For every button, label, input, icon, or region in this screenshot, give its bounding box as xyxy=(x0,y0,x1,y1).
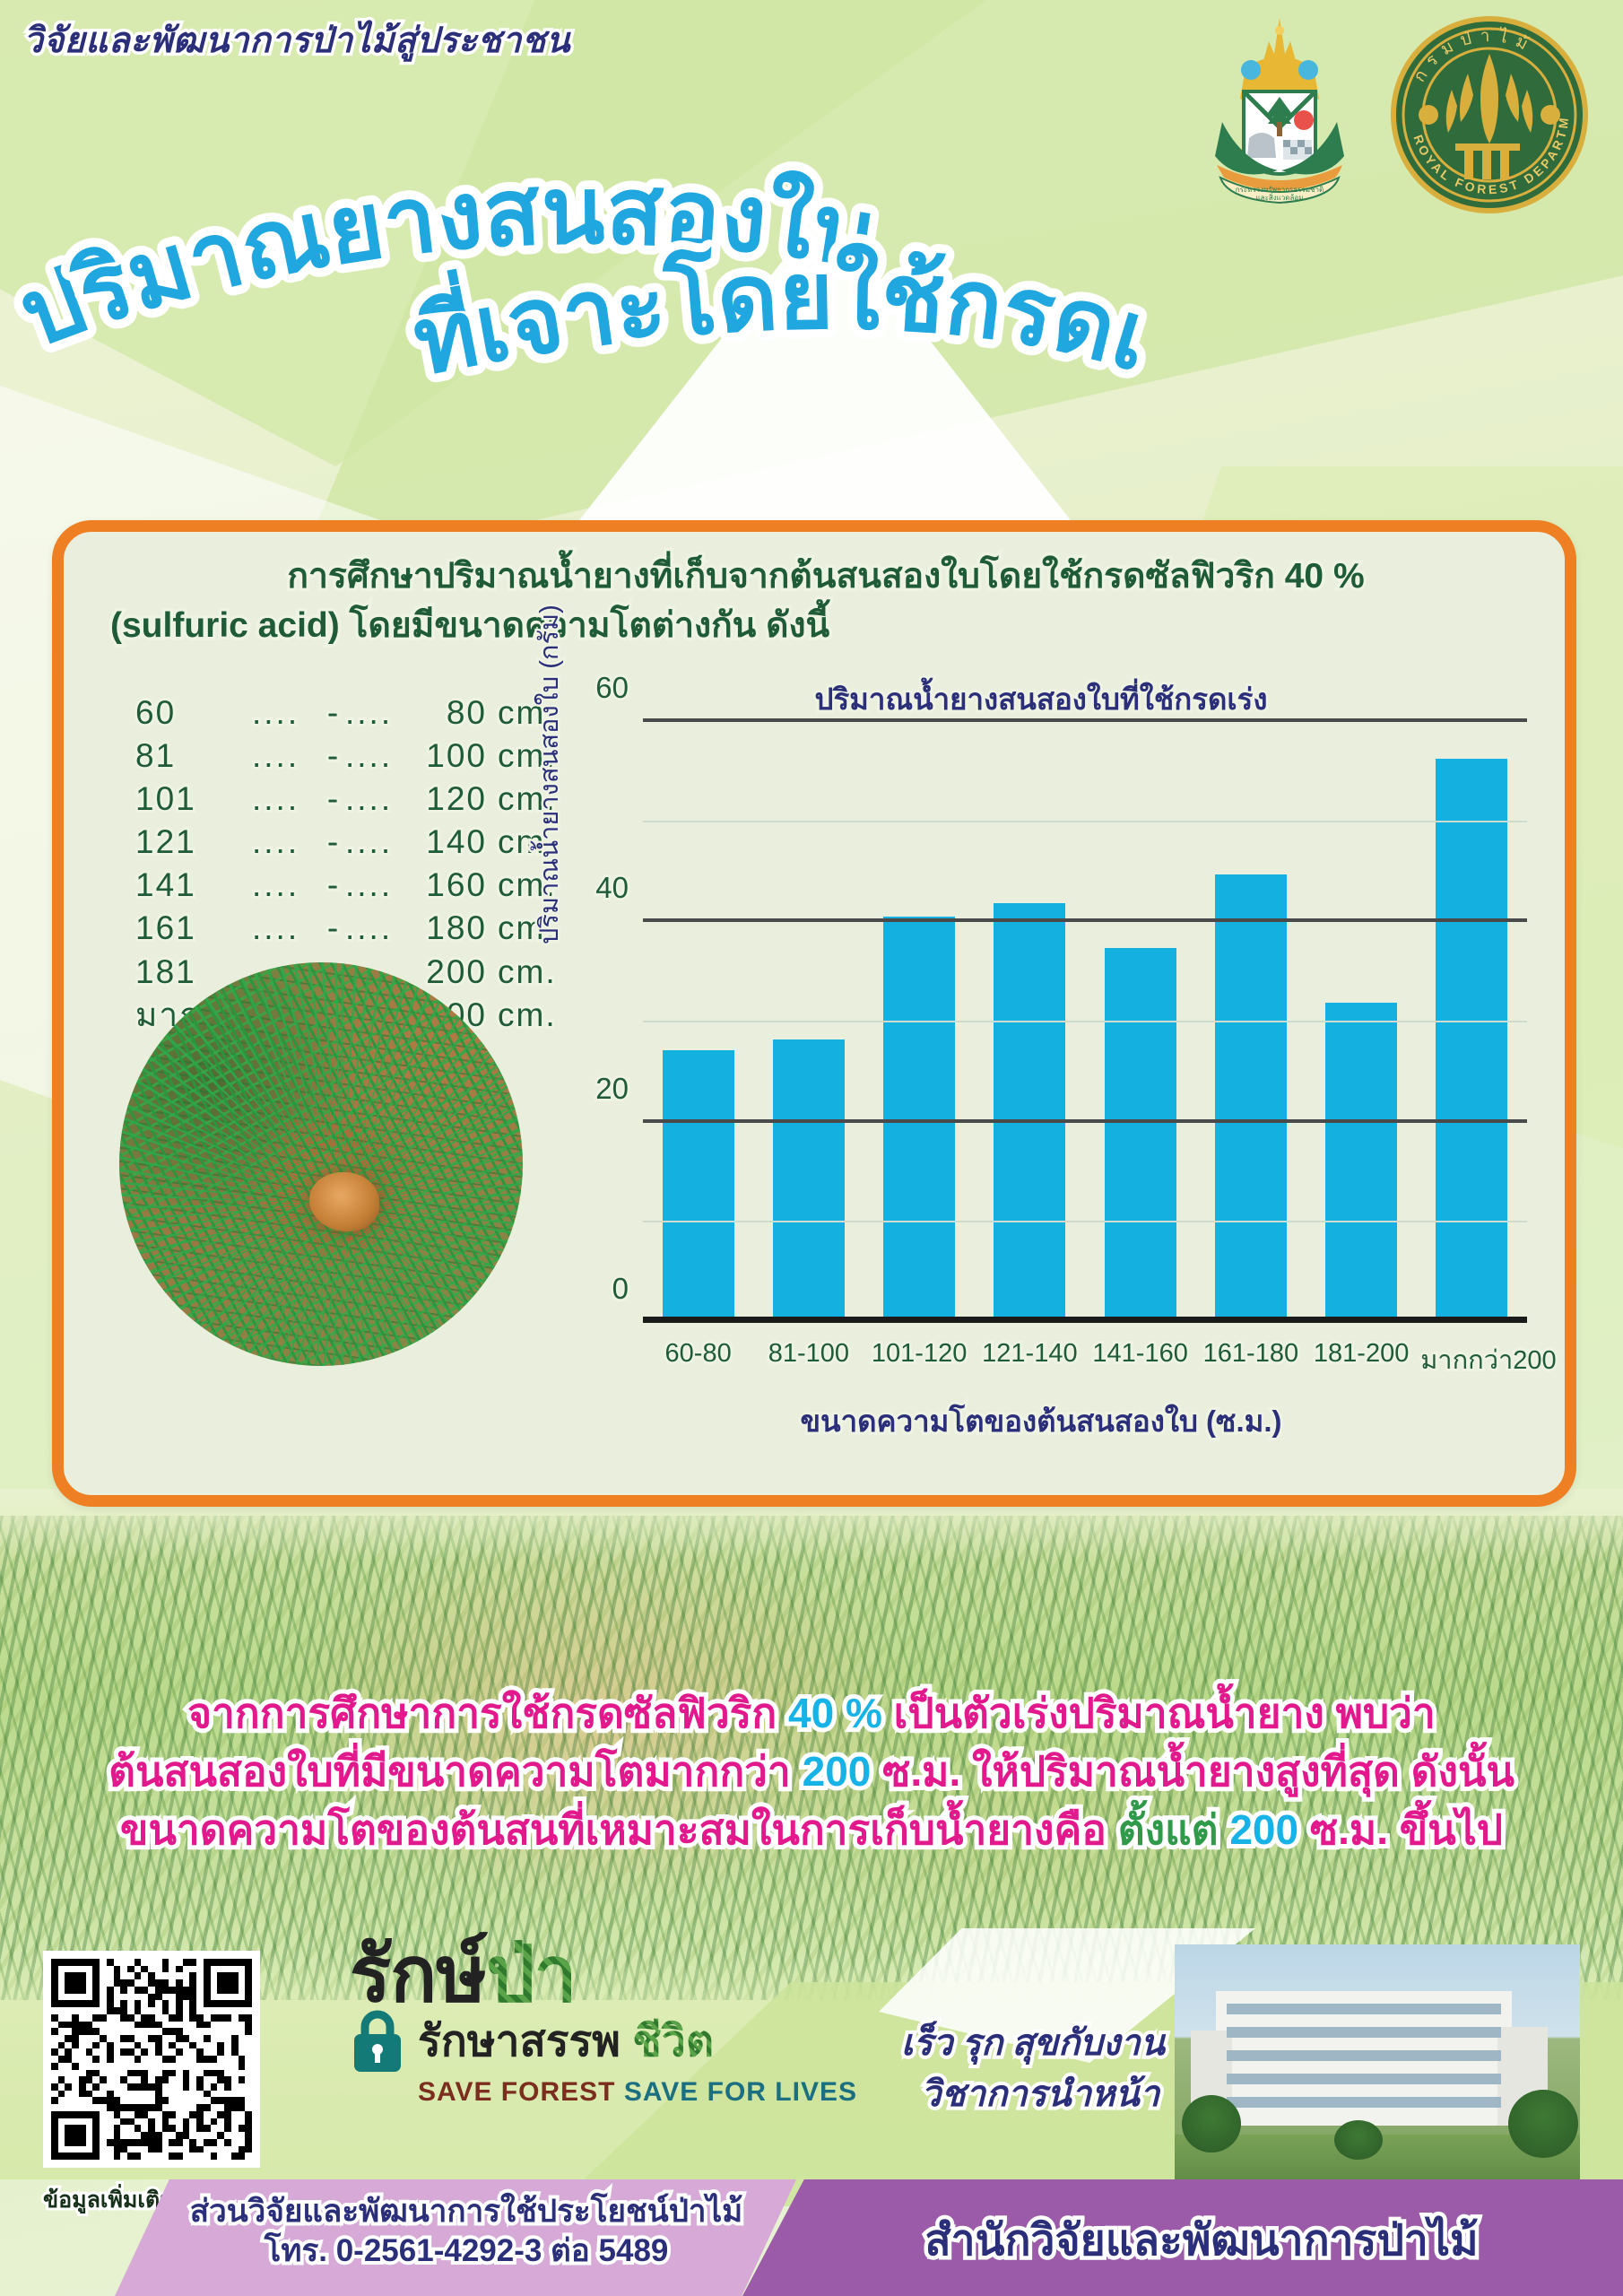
qr-module xyxy=(141,2063,148,2070)
qr-module xyxy=(224,2083,231,2091)
qr-module xyxy=(204,2132,211,2139)
qr-module xyxy=(86,2028,93,2035)
qr-module xyxy=(100,2056,107,2063)
qr-module xyxy=(72,2118,79,2126)
qr-module xyxy=(86,2146,93,2153)
qr-module xyxy=(231,2132,239,2139)
qr-module xyxy=(239,2022,246,2029)
size-dots-2: .... xyxy=(345,864,404,907)
qr-module xyxy=(204,1972,211,1979)
conclusion-l2-a: ต้นสนสองใบที่มีขนาดความโตมากกว่า xyxy=(108,1748,803,1795)
qr-module xyxy=(162,1972,169,1979)
qr-module xyxy=(155,2014,162,2022)
building-window-row xyxy=(1227,2074,1501,2084)
chart-bar-column xyxy=(1310,722,1412,1323)
qr-module xyxy=(155,1966,162,1973)
qr-module xyxy=(79,2104,86,2111)
qr-module xyxy=(135,2091,142,2098)
qr-module xyxy=(196,2063,204,2070)
qr-module xyxy=(92,2083,100,2091)
qr-module xyxy=(100,2070,107,2077)
qr-module xyxy=(189,2118,196,2126)
footer-phone: โทร. 0-2561-4292-3 ต่อ 5489 xyxy=(152,2231,780,2271)
qr-module xyxy=(148,2014,155,2022)
qr-module xyxy=(169,2104,176,2111)
qr-module xyxy=(196,2056,204,2063)
qr-module xyxy=(176,2104,183,2111)
qr-module xyxy=(127,2007,135,2014)
qr-module xyxy=(231,2139,239,2146)
qr-module xyxy=(51,2000,58,2007)
qr-module xyxy=(51,2146,58,2153)
qr-module xyxy=(204,1994,211,2001)
qr-module xyxy=(114,2070,121,2077)
qr-module xyxy=(86,2111,93,2118)
size-to: 80 xyxy=(404,691,487,735)
qr-module xyxy=(107,2070,114,2077)
qr-module xyxy=(196,2035,204,2042)
logo-line-2-row: รักษาสรรพ ชีวิต xyxy=(350,2007,861,2075)
qr-module xyxy=(162,1959,169,1966)
qr-module xyxy=(58,2152,65,2160)
qr-module xyxy=(176,1994,183,2001)
qr-module xyxy=(217,2014,224,2022)
qr-module xyxy=(65,2028,72,2035)
qr-module xyxy=(120,1994,127,2001)
qr-module xyxy=(189,2063,196,2070)
qr-module xyxy=(79,2132,86,2139)
qr-module xyxy=(162,2076,169,2083)
qr-module xyxy=(100,2076,107,2083)
qr-module xyxy=(239,2146,246,2153)
qr-module xyxy=(162,2118,169,2126)
qr-module xyxy=(141,2028,148,2035)
qr-module xyxy=(176,2042,183,2049)
qr-module xyxy=(58,2146,65,2153)
agency-slogan: เร็ว รุก สุขกับงาน วิชาการนำหน้า xyxy=(901,2018,1165,2120)
qr-module xyxy=(162,2091,169,2098)
qr-module xyxy=(120,2063,127,2070)
footer: ส่วนวิจัยและพัฒนาการใช้ประโยชน์ป่าไม้ โท… xyxy=(0,2179,1623,2296)
qr-module xyxy=(204,2125,211,2132)
qr-module xyxy=(155,2146,162,2153)
qr-module xyxy=(79,2139,86,2146)
qr-module xyxy=(120,2111,127,2118)
qr-module xyxy=(51,2014,58,2022)
qr-module xyxy=(141,2104,148,2111)
qr-module xyxy=(120,2056,127,2063)
qr-module xyxy=(86,2022,93,2029)
qr-module xyxy=(65,2076,72,2083)
qr-module xyxy=(65,1987,72,1994)
qr-module xyxy=(224,1959,231,1966)
qr-module xyxy=(86,2048,93,2056)
conclusion-l2-c: ซ.ม. ให้ปริมาณน้ำยางสูงที่สุด ดังนั้น xyxy=(871,1748,1515,1795)
qr-module xyxy=(58,2035,65,2042)
qr-module xyxy=(92,2014,100,2022)
qr-module xyxy=(114,1966,121,1973)
qr-module xyxy=(169,2139,176,2146)
qr-code-block[interactable]: ข้อมูลเพิ่มเติม SCAN ME xyxy=(43,1951,285,2218)
chart-bar xyxy=(1436,759,1507,1323)
qr-module xyxy=(135,2139,142,2146)
qr-module xyxy=(92,2132,100,2139)
qr-module xyxy=(211,2125,218,2132)
slogan-line-1: เร็ว รุก สุขกับงาน xyxy=(901,2018,1165,2069)
chart-y-axis-label: ปริมาณน้ำยางสนสองใบ (กรัม) xyxy=(528,604,569,944)
qr-module xyxy=(162,2111,169,2118)
qr-module xyxy=(183,2083,190,2091)
qr-module xyxy=(141,2118,148,2126)
chart-gridline xyxy=(643,1119,1527,1123)
qr-module xyxy=(58,2048,65,2056)
qr-module xyxy=(231,1987,239,1994)
qr-module xyxy=(217,2104,224,2111)
building-window-row xyxy=(1227,2097,1501,2108)
qr-module xyxy=(114,2146,121,2153)
qr-code-grid xyxy=(51,1959,252,2160)
qr-module xyxy=(169,1979,176,1987)
qr-module xyxy=(107,2091,114,2098)
qr-module xyxy=(162,2048,169,2056)
qr-module xyxy=(114,2132,121,2139)
qr-module xyxy=(211,2132,218,2139)
qr-module xyxy=(217,2022,224,2029)
qr-module xyxy=(211,2070,218,2077)
qr-module xyxy=(196,1979,204,1987)
chart-y-tick: 20 xyxy=(595,1072,629,1106)
chart-title: ปริมาณน้ำยางสนสองใบที่ใช้กรดเร่ง xyxy=(539,675,1543,723)
qr-module xyxy=(86,1959,93,1966)
qr-module xyxy=(135,2014,142,2022)
qr-module xyxy=(189,2091,196,2098)
qr-module xyxy=(92,2118,100,2126)
qr-module xyxy=(72,2097,79,2104)
qr-module xyxy=(120,2000,127,2007)
qr-module xyxy=(155,2035,162,2042)
qr-module xyxy=(65,2146,72,2153)
qr-module xyxy=(224,2000,231,2007)
qr-module xyxy=(183,2028,190,2035)
chart-gridline-minor xyxy=(643,1221,1527,1222)
qr-module xyxy=(176,2146,183,2153)
qr-module xyxy=(135,1987,142,1994)
qr-module xyxy=(217,2000,224,2007)
qr-module xyxy=(224,2152,231,2160)
qr-module xyxy=(120,1959,127,1966)
conclusion-line-3: ขนาดความโตของต้นสนที่เหมาะสมในการเก็บน้ำ… xyxy=(36,1803,1587,1857)
royal-forest-department-seal: กรมป่าไม้ ROYAL FOREST DEPARTMENT xyxy=(1389,14,1591,216)
qr-module xyxy=(65,2070,72,2077)
chart-x-tick: 60-80 xyxy=(647,1339,749,1380)
qr-module xyxy=(86,2042,93,2049)
qr-module xyxy=(196,2091,204,2098)
qr-module xyxy=(65,2042,72,2049)
qr-module xyxy=(239,2007,246,2014)
qr-module xyxy=(65,2104,72,2111)
qr-module xyxy=(100,1994,107,2001)
qr-module xyxy=(217,2063,224,2070)
qr-module xyxy=(196,2083,204,2091)
qr-module xyxy=(239,1987,246,1994)
qr-module xyxy=(79,2070,86,2077)
qr-module xyxy=(211,2056,218,2063)
qr-module xyxy=(92,2097,100,2104)
qr-module xyxy=(127,2070,135,2077)
qr-module xyxy=(58,2097,65,2104)
qr-module xyxy=(224,1987,231,1994)
qr-module xyxy=(183,2125,190,2132)
qr-module xyxy=(120,1979,127,1987)
qr-module xyxy=(245,1972,252,1979)
qr-module xyxy=(196,2014,204,2022)
qr-module xyxy=(245,2042,252,2049)
qr-module xyxy=(107,2118,114,2126)
qr-module xyxy=(72,2146,79,2153)
qr-module xyxy=(211,2035,218,2042)
qr-module xyxy=(169,2070,176,2077)
qr-module xyxy=(51,2097,58,2104)
qr-module xyxy=(58,2042,65,2049)
qr-module xyxy=(65,2118,72,2126)
qr-module xyxy=(141,1959,148,1966)
qr-module xyxy=(92,2048,100,2056)
qr-module xyxy=(211,2097,218,2104)
qr-module xyxy=(204,1979,211,1987)
qr-module xyxy=(217,2070,224,2077)
qr-module xyxy=(148,1987,155,1994)
qr-module xyxy=(127,2111,135,2118)
qr-module xyxy=(183,2076,190,2083)
qr-module xyxy=(189,2035,196,2042)
chart-x-tick: 141-160 xyxy=(1089,1339,1191,1380)
qr-module xyxy=(114,1979,121,1987)
qr-module xyxy=(51,2152,58,2160)
qr-module xyxy=(204,2063,211,2070)
chart-x-tick: มากกว่า200 xyxy=(1420,1339,1523,1380)
qr-module xyxy=(217,2152,224,2160)
qr-module xyxy=(92,2139,100,2146)
qr-module xyxy=(189,2014,196,2022)
intro-line-1: การศึกษาปริมาณน้ำยางที่เก็บจากต้นสนสองใบ… xyxy=(100,552,1552,601)
qr-module xyxy=(141,1987,148,1994)
qr-module xyxy=(189,2022,196,2029)
size-dots-2: .... xyxy=(345,907,404,950)
ministry-crest-emblem: กระทรวงทรัพยากรธรรมชาติ และสิ่งแวดล้อม xyxy=(1190,14,1369,207)
qr-module xyxy=(196,2152,204,2160)
qr-module xyxy=(92,2070,100,2077)
qr-module xyxy=(189,2007,196,2014)
qr-module xyxy=(155,2070,162,2077)
qr-module xyxy=(239,2000,246,2007)
qr-module xyxy=(239,2097,246,2104)
qr-module xyxy=(148,1959,155,1966)
qr-module xyxy=(120,1966,127,1973)
qr-module xyxy=(58,1972,65,1979)
size-range-item: 121 .... - .... 140 cm. xyxy=(135,821,566,864)
lock-icon xyxy=(350,2008,405,2074)
qr-module xyxy=(65,2091,72,2098)
qr-module xyxy=(141,2007,148,2014)
qr-module xyxy=(245,2056,252,2063)
qr-module xyxy=(65,2083,72,2091)
qr-module xyxy=(65,2007,72,2014)
qr-module xyxy=(92,2028,100,2035)
qr-module xyxy=(217,2042,224,2049)
conclusion-l3-highlight: 200 xyxy=(1229,1806,1298,1853)
qr-module xyxy=(162,1994,169,2001)
qr-module xyxy=(58,2056,65,2063)
qr-module xyxy=(224,2104,231,2111)
qr-module xyxy=(183,1966,190,1973)
qr-module xyxy=(114,2118,121,2126)
size-range-item: 161 .... - .... 180 cm. xyxy=(135,907,566,950)
qr-module xyxy=(176,2132,183,2139)
chart-x-tick: 101-120 xyxy=(868,1339,970,1380)
qr-module xyxy=(107,2048,114,2056)
qr-module xyxy=(79,2042,86,2049)
qr-module xyxy=(155,1987,162,1994)
qr-module xyxy=(189,2152,196,2160)
qr-module xyxy=(100,2146,107,2153)
qr-module xyxy=(141,2076,148,2083)
qr-module xyxy=(65,2022,72,2029)
qr-module xyxy=(114,2076,121,2083)
qr-module xyxy=(169,2125,176,2132)
size-dots-2: .... xyxy=(345,735,404,778)
chart-plot-area: 0204060 xyxy=(643,722,1527,1323)
qr-module xyxy=(72,2056,79,2063)
qr-module xyxy=(107,2139,114,2146)
qr-module xyxy=(183,2104,190,2111)
qr-module xyxy=(204,1966,211,1973)
qr-module xyxy=(135,2097,142,2104)
qr-module xyxy=(51,1979,58,1987)
qr-module xyxy=(120,2104,127,2111)
qr-module xyxy=(183,2000,190,2007)
qr-module xyxy=(217,2048,224,2056)
qr-module xyxy=(86,2139,93,2146)
qr-module xyxy=(58,2000,65,2007)
qr-module xyxy=(189,2104,196,2111)
qr-module xyxy=(92,2091,100,2098)
qr-module xyxy=(155,2076,162,2083)
qr-module xyxy=(211,2042,218,2049)
qr-module xyxy=(204,2097,211,2104)
qr-module xyxy=(217,1987,224,1994)
qr-module xyxy=(58,2007,65,2014)
qr-module xyxy=(204,2070,211,2077)
qr-module xyxy=(86,1987,93,1994)
qr-module xyxy=(183,2048,190,2056)
qr-module xyxy=(196,2070,204,2077)
qr-module xyxy=(65,2132,72,2139)
qr-module xyxy=(114,2111,121,2118)
qr-module xyxy=(155,2152,162,2160)
size-dash: - xyxy=(322,864,345,907)
qr-module xyxy=(135,2007,142,2014)
qr-module xyxy=(65,2139,72,2146)
qr-module xyxy=(189,2083,196,2091)
qr-module xyxy=(100,2022,107,2029)
qr-module xyxy=(196,1972,204,1979)
chart-x-tick: 161-180 xyxy=(1200,1339,1302,1380)
qr-module xyxy=(162,2139,169,2146)
building-window-row xyxy=(1227,2027,1501,2038)
qr-module xyxy=(120,2035,127,2042)
qr-module xyxy=(127,2097,135,2104)
chart-gridline xyxy=(643,918,1527,922)
footer-division-info: ส่วนวิจัยและพัฒนาการใช้ประโยชน์ป่าไม้ โท… xyxy=(152,2192,780,2271)
qr-module xyxy=(100,2104,107,2111)
qr-module xyxy=(155,2091,162,2098)
qr-module xyxy=(141,2070,148,2077)
qr-module xyxy=(217,2146,224,2153)
size-to: 140 xyxy=(404,821,487,864)
qr-module xyxy=(211,2118,218,2126)
qr-module xyxy=(245,2048,252,2056)
qr-code[interactable] xyxy=(43,1951,260,2168)
qr-module xyxy=(107,2104,114,2111)
qr-module xyxy=(217,2139,224,2146)
qr-module xyxy=(162,2146,169,2153)
qr-module xyxy=(58,2076,65,2083)
qr-module xyxy=(79,1972,86,1979)
qr-module xyxy=(58,2083,65,2091)
qr-module xyxy=(204,2104,211,2111)
qr-module xyxy=(79,2000,86,2007)
qr-module xyxy=(86,2014,93,2022)
size-dots-2: .... xyxy=(345,821,404,864)
qr-module xyxy=(107,1959,114,1966)
qr-module xyxy=(189,2070,196,2077)
qr-module xyxy=(92,2022,100,2029)
qr-module xyxy=(58,2063,65,2070)
qr-module xyxy=(224,1994,231,2001)
qr-module xyxy=(120,2146,127,2153)
qr-module xyxy=(107,2028,114,2035)
qr-module xyxy=(100,1972,107,1979)
qr-module xyxy=(141,2056,148,2063)
content-card: การศึกษาปริมาณน้ำยางที่เก็บจากต้นสนสองใบ… xyxy=(52,520,1576,1507)
qr-module xyxy=(162,1987,169,1994)
qr-module xyxy=(162,2104,169,2111)
footer-bureau-name: สำนักวิจัยและพัฒนาการป่าไม้ xyxy=(807,2206,1596,2274)
qr-module xyxy=(176,2118,183,2126)
qr-module xyxy=(189,2097,196,2104)
qr-module xyxy=(224,2056,231,2063)
svg-text:กระทรวงทรัพยากรธรรมชาติ: กระทรวงทรัพยากรธรรมชาติ xyxy=(1236,186,1324,194)
conclusion-l3-green: ตั้งแต่ xyxy=(1118,1806,1230,1853)
qr-module xyxy=(127,2035,135,2042)
qr-module xyxy=(79,2146,86,2153)
qr-module xyxy=(189,2028,196,2035)
qr-module xyxy=(176,1966,183,1973)
qr-module xyxy=(86,2132,93,2139)
chart-y-tick: 60 xyxy=(595,671,629,705)
qr-module xyxy=(107,2146,114,2153)
logo-pa: ป่า xyxy=(486,1932,577,2018)
qr-module xyxy=(204,2000,211,2007)
chart-bar xyxy=(1215,874,1287,1323)
qr-module xyxy=(155,2111,162,2118)
qr-module xyxy=(120,2070,127,2077)
qr-module xyxy=(58,2111,65,2118)
qr-module xyxy=(141,2097,148,2104)
qr-module xyxy=(79,2007,86,2014)
qr-module xyxy=(231,2152,239,2160)
qr-module xyxy=(114,2035,121,2042)
